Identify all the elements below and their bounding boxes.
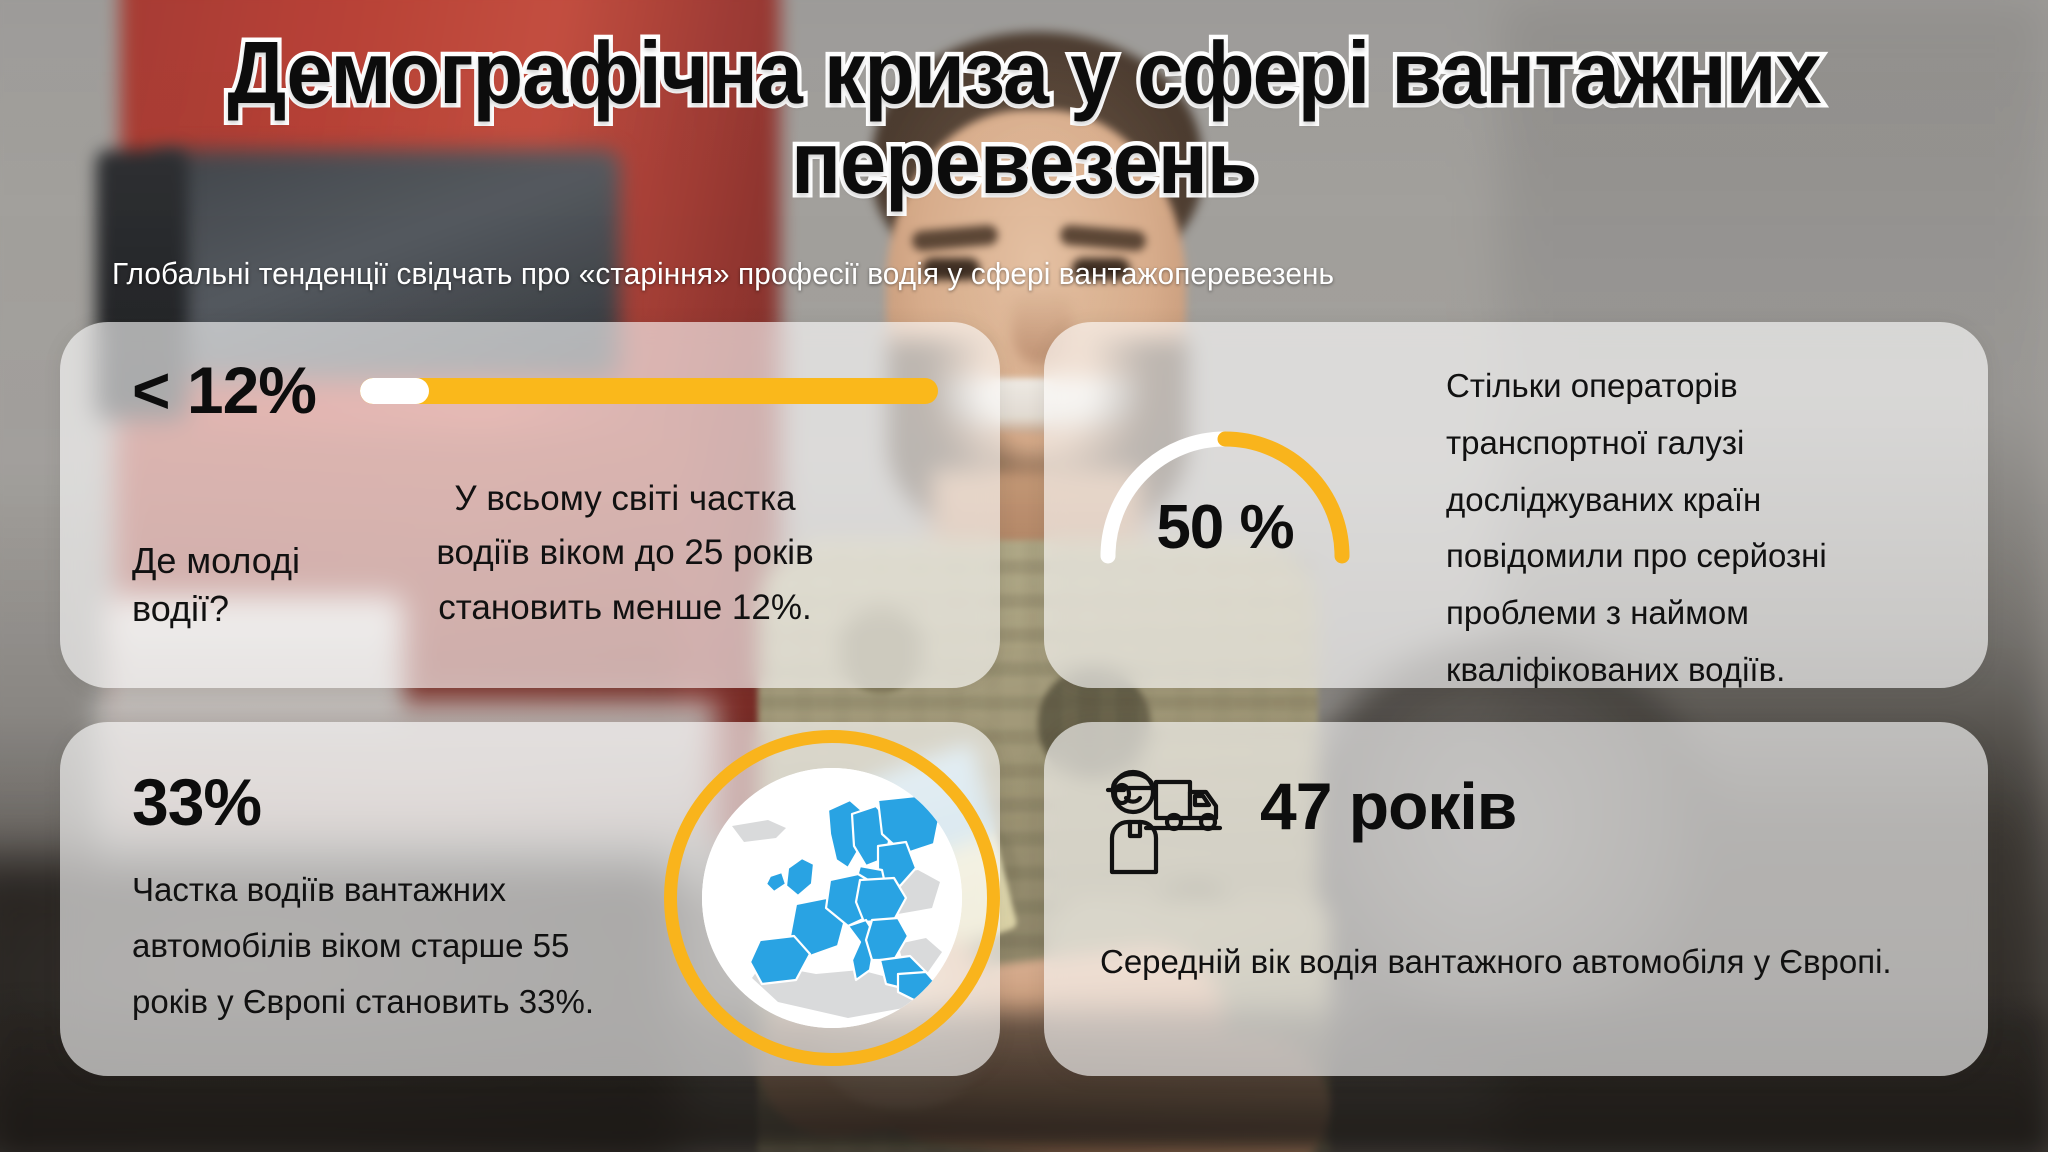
europe-map-badge bbox=[664, 730, 1000, 1066]
infographic-stage: Демографічна криза у сфері вантажних пер… bbox=[0, 0, 2048, 1152]
stat-card-young-drivers[interactable]: < 12% Де молоді водії? У всьому світі ча… bbox=[60, 322, 1000, 688]
europe-map-icon bbox=[702, 768, 962, 1028]
stat-card-average-age[interactable]: 47 років Середній вік водія вантажного а… bbox=[1044, 722, 1988, 1076]
stat-value-average-age: 47 років bbox=[1260, 768, 1516, 844]
stat-description-older-than-55: Частка водіїв вантажних автомобілів віко… bbox=[132, 862, 602, 1030]
stat-card-hiring-problems[interactable]: 50 % Стільки операторів транспортної гал… bbox=[1044, 322, 1988, 688]
stat-description-average-age: Середній вік водія вантажного автомобіля… bbox=[1100, 934, 1910, 991]
stat-value-older-than-55: 33% bbox=[132, 764, 261, 840]
stat-value-young-drivers: < 12% bbox=[132, 352, 316, 428]
stat-cards-grid: < 12% Де молоді водії? У всьому світі ча… bbox=[0, 0, 2048, 1152]
truck-driver-icon bbox=[1100, 756, 1238, 876]
stat-value-hiring-problems: 50 % bbox=[1090, 492, 1360, 563]
semicircle-gauge-icon: 50 % bbox=[1090, 388, 1360, 563]
progress-bar-young-drivers bbox=[360, 378, 938, 404]
stat-description-hiring-problems: Стільки операторів транспортної галузі д… bbox=[1446, 358, 1946, 699]
stat-question-young-drivers: Де молоді водії? bbox=[132, 537, 392, 633]
progress-bar-white-segment bbox=[360, 378, 429, 404]
stat-card-older-than-55[interactable]: 33% Частка водіїв вантажних автомобілів … bbox=[60, 722, 1000, 1076]
stat-description-young-drivers: У всьому світі частка водіїв віком до 25… bbox=[415, 472, 835, 635]
